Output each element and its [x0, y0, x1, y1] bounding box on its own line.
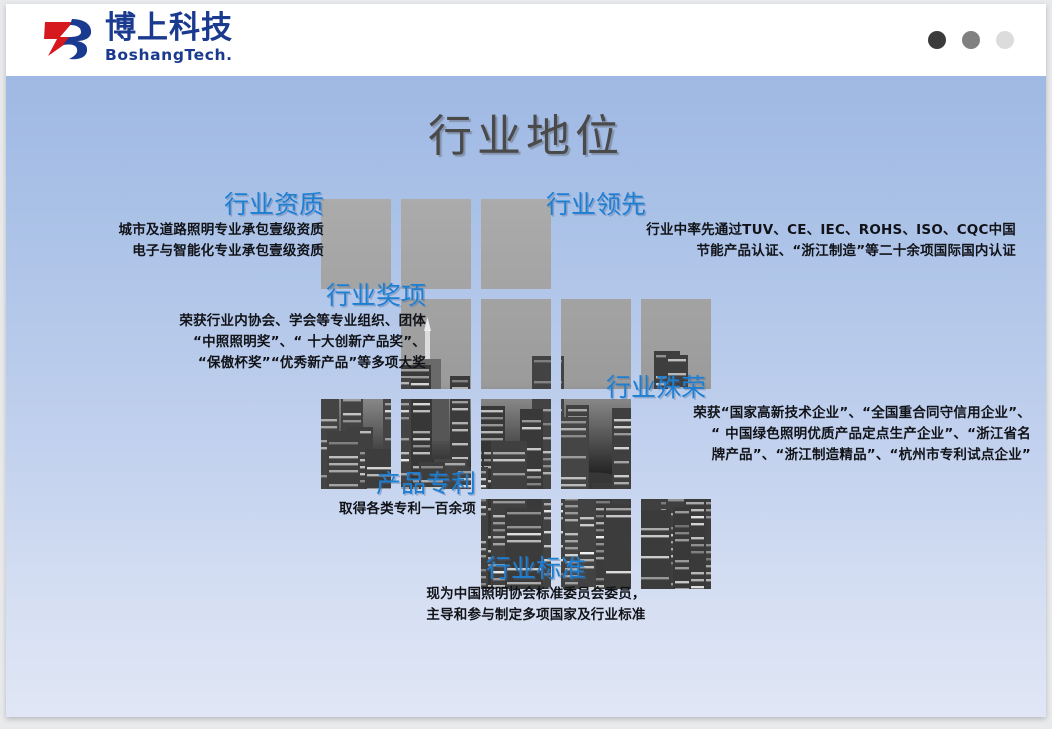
mosaic-tile	[321, 199, 391, 289]
body-line: 行业中率先通过TUV、CE、IEC、ROHS、ISO、CQC中国	[546, 220, 1016, 241]
company-logo: 博上科技 BoshangTech.	[42, 13, 233, 64]
dot-medium	[962, 31, 980, 49]
body-line: 电子与智能化专业承包壹级资质	[24, 241, 324, 262]
block-industry-awards: 行业奖项 荣获行业内协会、学会等专业组织、团体“中照照明奖”、“ 十大创新产品奖…	[96, 282, 426, 374]
body-line: “ 中国绿色照明优质产品定点生产企业”、“浙江省名	[606, 424, 1031, 445]
mosaic-tile	[481, 299, 551, 389]
block-body: 取得各类专利一百余项	[156, 499, 476, 520]
body-line: 主导和参与制定多项国家及行业标准	[336, 605, 736, 626]
block-product-patent: 产品专利 取得各类专利一百余项	[156, 470, 476, 520]
block-industry-qualification: 行业资质 城市及道路照明专业承包壹级资质电子与智能化专业承包壹级资质	[24, 191, 324, 262]
header-dot-group	[928, 31, 1014, 49]
block-heading: 产品专利	[156, 470, 476, 499]
logo-chinese-name: 博上科技	[105, 13, 233, 44]
page-title: 行业地位	[6, 100, 1046, 164]
mosaic-tile	[481, 399, 551, 489]
mosaic-tile	[481, 199, 551, 289]
block-industry-leading: 行业领先 行业中率先通过TUV、CE、IEC、ROHS、ISO、CQC中国节能产…	[546, 191, 1016, 262]
presentation-slide: 博上科技 BoshangTech. 行业地位 行业资质 城市及道路照明专业承包壹…	[6, 4, 1046, 717]
mosaic-tile	[401, 199, 471, 289]
slide-canvas: 行业地位 行业资质 城市及道路照明专业承包壹级资质电子与智能化专业承包壹级资质 …	[6, 76, 1046, 717]
block-industry-standard: 行业标准 现为中国照明协会标准委员会委员，主导和参与制定多项国家及行业标准	[336, 555, 736, 626]
block-heading: 行业奖项	[96, 282, 426, 311]
block-industry-honor: 行业殊荣 荣获“国家高新技术企业”、“全国重合同守信用企业”、“ 中国绿色照明优…	[606, 374, 1031, 466]
body-line: “中照照明奖”、“ 十大创新产品奖”、	[96, 332, 426, 353]
body-line: 牌产品”、“浙江制造精品”、“杭州市专利试点企业”	[606, 445, 1031, 466]
block-body: 城市及道路照明专业承包壹级资质电子与智能化专业承包壹级资质	[24, 220, 324, 262]
boshang-logo-mark-icon	[42, 13, 96, 63]
body-line: 现为中国照明协会标准委员会委员，	[336, 584, 736, 605]
block-heading: 行业领先	[546, 191, 1016, 220]
logo-text: 博上科技 BoshangTech.	[105, 13, 233, 64]
body-line: 荣获行业内协会、学会等专业组织、团体	[96, 311, 426, 332]
block-heading: 行业标准	[336, 555, 736, 584]
body-line: 取得各类专利一百余项	[156, 499, 476, 520]
dot-dark	[928, 31, 946, 49]
body-line: 节能产品认证、“浙江制造”等二十余项国际国内认证	[546, 241, 1016, 262]
block-heading: 行业殊荣	[606, 374, 1031, 403]
logo-english-name: BoshangTech.	[105, 48, 233, 64]
body-line: 荣获“国家高新技术企业”、“全国重合同守信用企业”、	[606, 403, 1031, 424]
block-body: 荣获“国家高新技术企业”、“全国重合同守信用企业”、“ 中国绿色照明优质产品定点…	[606, 403, 1031, 466]
block-body: 行业中率先通过TUV、CE、IEC、ROHS、ISO、CQC中国节能产品认证、“…	[546, 220, 1016, 262]
dot-light	[996, 31, 1014, 49]
body-line: 城市及道路照明专业承包壹级资质	[24, 220, 324, 241]
block-body: 荣获行业内协会、学会等专业组织、团体“中照照明奖”、“ 十大创新产品奖”、“保傲…	[96, 311, 426, 374]
block-heading: 行业资质	[24, 191, 324, 220]
block-body: 现为中国照明协会标准委员会委员，主导和参与制定多项国家及行业标准	[336, 584, 736, 626]
body-line: “保傲杯奖”“优秀新产品”等多项大奖	[96, 353, 426, 374]
slide-header: 博上科技 BoshangTech.	[6, 4, 1046, 77]
